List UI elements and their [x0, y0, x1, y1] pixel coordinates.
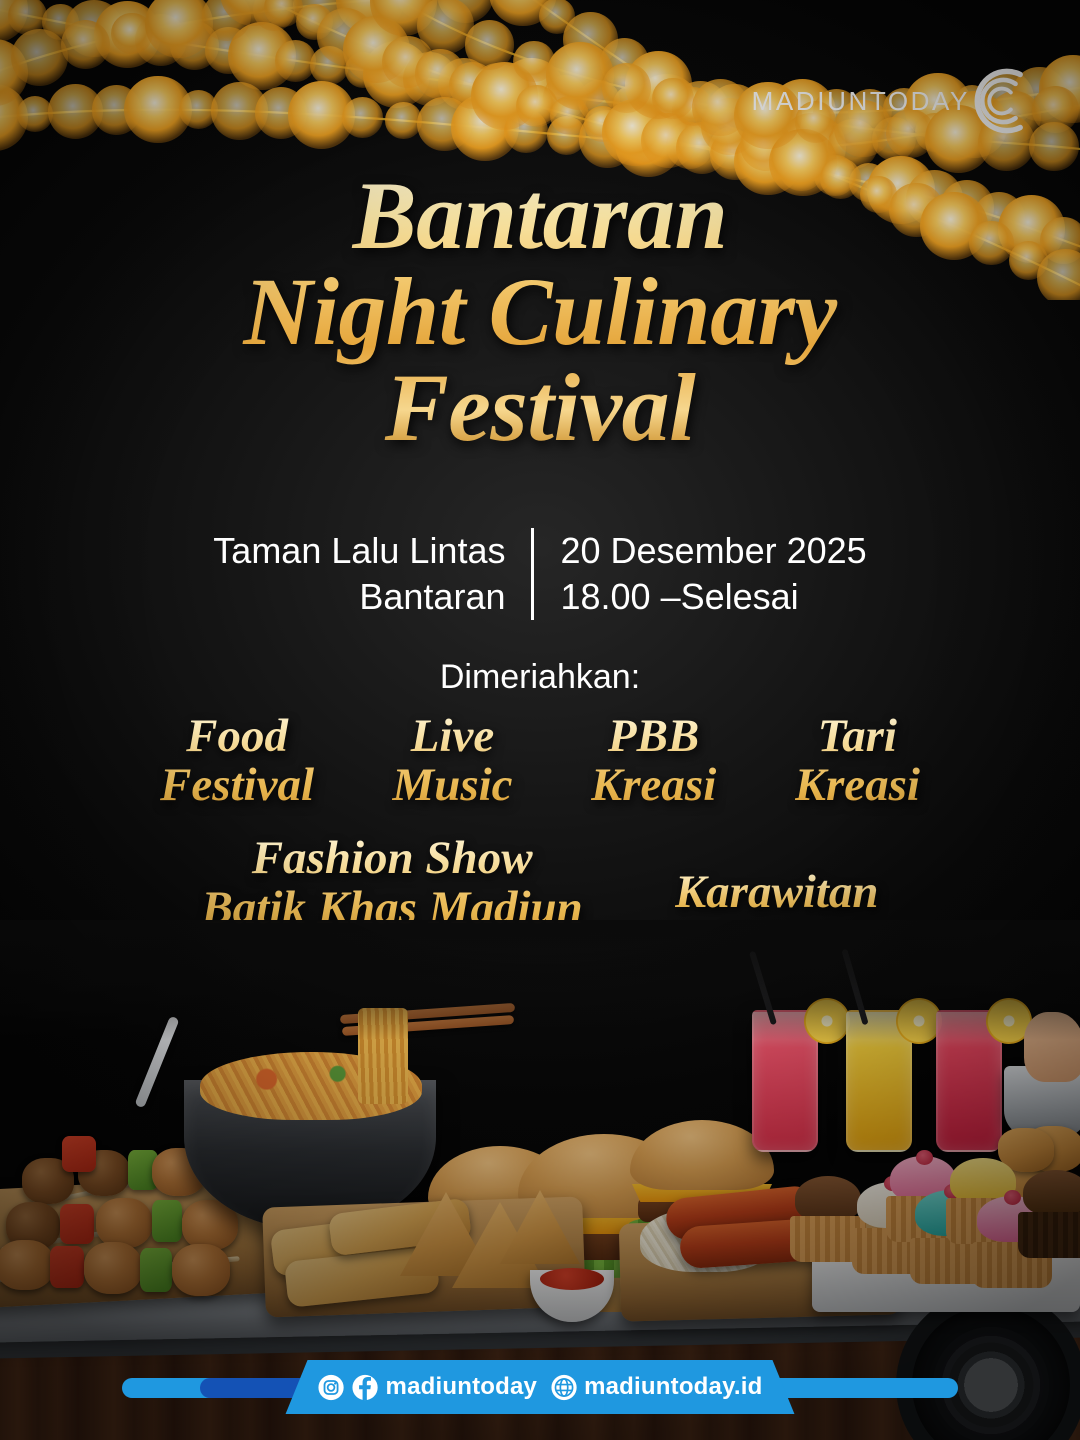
social-footer-bar: madiuntoday madiuntoday.id	[0, 1372, 1080, 1404]
social-handle-group[interactable]: madiuntoday	[318, 1373, 538, 1401]
instagram-icon[interactable]	[318, 1374, 345, 1401]
website-handle-group[interactable]: madiuntoday.id	[550, 1373, 762, 1401]
globe-icon[interactable]	[550, 1374, 577, 1401]
footer-handles-panel: madiuntoday madiuntoday.id	[286, 1360, 795, 1414]
footer-segment-right-light	[768, 1378, 958, 1398]
poster-canvas: MADIUNTODAY Bantaran Night Culinary Fest…	[0, 0, 1080, 1440]
vignette-overlay	[0, 0, 1080, 1440]
website-handle-label: madiuntoday.id	[584, 1373, 762, 1401]
social-handle-label: madiuntoday	[386, 1373, 538, 1401]
facebook-icon[interactable]	[352, 1374, 379, 1401]
